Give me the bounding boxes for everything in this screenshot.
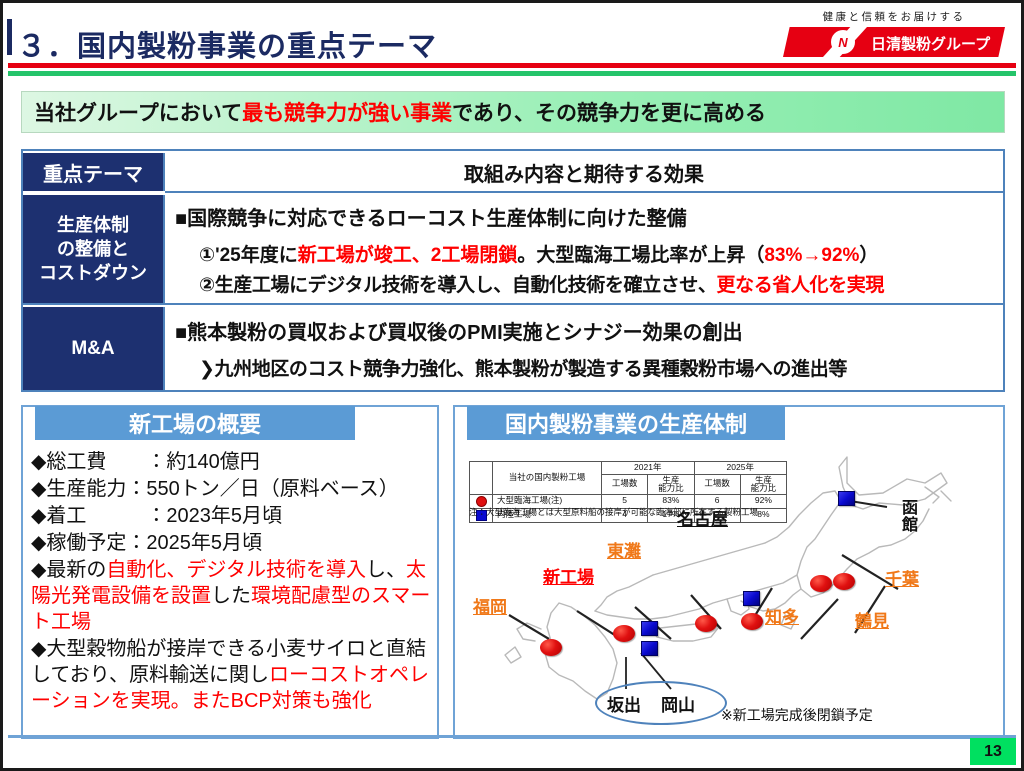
item-text: した [211, 585, 251, 607]
item-text-red: 自動化、デジタル技術を導入 [106, 559, 366, 581]
map-label-new-plant: 新工場 [543, 563, 594, 588]
header-rule-green [8, 71, 1016, 76]
row-heading: ■熊本製粉の買収および買収後のPMI実施とシナジー効果の創出 [175, 316, 1003, 345]
item-text: ②生産工場にデジタル技術を導入し、自動化技術を確立させ、 [199, 275, 717, 296]
table-divider-1 [165, 191, 1003, 193]
table-row: M&A ■熊本製粉の買収および買収後のPMI実施とシナジー効果の創出 ❯九州地区… [23, 307, 1003, 390]
japan-map-area: 当社の国内製粉工場 2021年 2025年 工場数 生産能力比 工場数 生産能力… [455, 443, 1003, 737]
item-text-red: 83%→92% [764, 245, 859, 266]
list-item: ◆着工 ：2023年5月頃 [31, 503, 431, 529]
slide-header: ３．国内製粉事業の重点テーマ 健康と信頼をお届けする N 日清製粉グループ [3, 3, 1021, 63]
column-header-content: 取組み内容と期待する効果 [163, 153, 1003, 191]
row-header-line: の整備と [57, 237, 129, 261]
table-header-row: 重点テーマ 取組み内容と期待する効果 [23, 153, 1003, 191]
map-marker-sakaide [641, 641, 658, 656]
themes-table: 重点テーマ 取組み内容と期待する効果 生産体制 の整備と コストダウン ■国際競… [21, 149, 1005, 392]
map-footnote: ※新工場完成後閉鎖予定 [721, 705, 873, 725]
logo-company-name: 日清製粉グループ [871, 33, 990, 54]
row-item: ❯九州地区のコスト競争力強化、熊本製粉が製造する異種穀粉市場への進出等 [175, 354, 1003, 381]
header-rule-red [8, 63, 1016, 68]
item-text: ◆最新の [31, 559, 106, 581]
map-marker-okayama [641, 621, 658, 636]
title-accent-bar [7, 19, 12, 55]
row-content-production: ■国際競争に対応できるローコスト生産体制に向けた整備 ①'25年度に新工場が竣工… [163, 195, 1003, 303]
map-label-hakodate: 函館 [895, 499, 919, 533]
production-network-heading: 国内製粉事業の生産体制 [467, 406, 785, 440]
row-header-line: コストダウン [39, 261, 147, 285]
banner-text-highlight: 最も競争力が強い事業 [242, 102, 452, 125]
map-marker-tsurumi [810, 575, 832, 592]
map-label-fukuoka: 福岡 [473, 593, 507, 618]
row-header-line: 生産体制 [57, 213, 129, 237]
column-header-theme: 重点テーマ [23, 153, 163, 191]
highlight-banner: 当社グループにおいて最も競争力が強い事業であり、その競争力を更に高める [21, 91, 1005, 133]
list-item: ◆生産能力：550トン／日（原料ベース） [31, 476, 431, 502]
footer-rule [8, 735, 1016, 738]
new-plant-overview-panel: 新工場の概要 ◆総工費 ：約140億円 ◆生産能力：550トン／日（原料ベース）… [21, 405, 439, 739]
row-item: ①'25年度に新工場が竣工、2工場閉鎖。大型臨海工場比率が上昇（83%→92%） [175, 240, 1003, 267]
map-marker-higashinada [695, 615, 717, 632]
item-text-red: 新工場が竣工、2工場閉鎖 [298, 245, 518, 266]
map-marker-fukuoka [540, 639, 562, 656]
list-item: ◆稼働予定：2025年5月頃 [31, 530, 431, 556]
new-plant-overview-heading: 新工場の概要 [35, 406, 355, 440]
item-text: 。大型臨海工場比率が上昇（ [517, 245, 764, 266]
item-text: ①'25年度に [199, 245, 298, 266]
map-marker-chita [741, 613, 763, 630]
map-label-nagoya: 名古屋 [677, 505, 728, 530]
map-callout-ellipse [595, 681, 727, 725]
item-text: ） [859, 245, 878, 266]
logo-tagline: 健康と信頼をお届けする [783, 9, 1005, 24]
new-plant-overview-body: ◆総工費 ：約140億円 ◆生産能力：550トン／日（原料ベース） ◆着工 ：2… [23, 443, 437, 715]
item-text: し、 [366, 559, 406, 581]
list-item: ◆最新の自動化、デジタル技術を導入し、太陽光発電設備を設置した環境配慮型のスマー… [31, 557, 431, 635]
production-network-panel: 国内製粉事業の生産体制 [453, 405, 1005, 739]
slide: ３．国内製粉事業の重点テーマ 健康と信頼をお届けする N 日清製粉グループ 当社… [0, 0, 1024, 771]
list-item: ◆大型穀物船が接岸できる小麦サイロと直結しており、原料輸送に関しローコストオペレ… [31, 636, 431, 714]
map-marker-nagoya [743, 591, 760, 606]
row-heading: ■国際競争に対応できるローコスト生産体制に向けた整備 [175, 202, 1003, 231]
map-label-higashinada: 東灘 [607, 537, 641, 562]
table-row: 生産体制 の整備と コストダウン ■国際競争に対応できるローコスト生産体制に向け… [23, 195, 1003, 303]
item-text-red: 更なる省人化を実現 [717, 275, 884, 296]
row-content-mna: ■熊本製粉の買収および買収後のPMI実施とシナジー効果の創出 ❯九州地区のコスト… [163, 307, 1003, 390]
map-marker-chiba [833, 573, 855, 590]
page-title: ３．国内製粉事業の重点テーマ [17, 23, 437, 65]
row-item: ②生産工場にデジタル技術を導入し、自動化技術を確立させ、更なる省人化を実現 [175, 270, 1003, 297]
map-marker-hakodate [838, 491, 855, 506]
row-header-production: 生産体制 の整備と コストダウン [23, 195, 163, 303]
row-header-mna: M&A [23, 307, 163, 390]
banner-text: 当社グループにおいて最も競争力が強い事業であり、その競争力を更に高める [22, 97, 766, 127]
map-marker-new-plant [613, 625, 635, 642]
map-label-chita: 知多 [765, 603, 799, 628]
banner-text-pre: 当社グループにおいて [34, 102, 242, 125]
page-number-badge: 13 [970, 738, 1016, 765]
logo-n-mark-icon: N [831, 30, 855, 54]
company-logo: 健康と信頼をお届けする N 日清製粉グループ [783, 9, 1005, 61]
list-item: ◆総工費 ：約140億円 [31, 449, 431, 475]
table-divider-full [23, 303, 1003, 305]
banner-text-post: であり、その競争力を更に高める [452, 102, 766, 125]
map-label-tsurumi: 鶴見 [855, 607, 889, 632]
map-label-chiba: 千葉 [885, 565, 919, 590]
map-leader-lines [455, 443, 1003, 737]
